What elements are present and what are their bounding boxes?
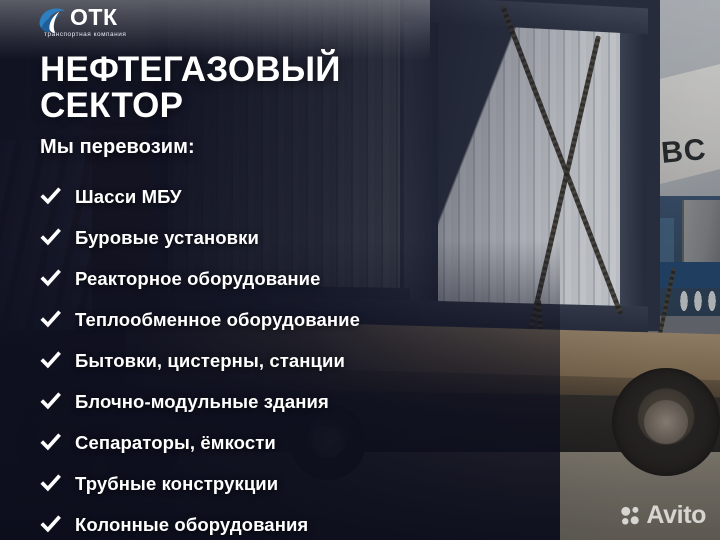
avito-watermark: Avito <box>620 503 706 528</box>
list-item: Блочно-модульные здания <box>40 381 460 422</box>
list-item-label: Шасси МБУ <box>75 186 182 208</box>
list-item-label: Буровые установки <box>75 227 259 249</box>
list-item-label: Трубные конструкции <box>75 473 278 495</box>
check-icon <box>40 473 61 494</box>
check-icon <box>40 227 61 248</box>
banner-content: ОТК транспортная компания НЕФТЕГАЗОВЫЙ С… <box>0 0 720 540</box>
list-item: Теплообменное оборудование <box>40 299 460 340</box>
list-item: Бытовки, цистерны, станции <box>40 340 460 381</box>
avito-dots-icon <box>620 505 641 526</box>
list-item-label: Блочно-модульные здания <box>75 391 329 413</box>
check-icon <box>40 309 61 330</box>
check-icon <box>40 268 61 289</box>
services-list: Шасси МБУ Буровые установки Реакторное о… <box>40 176 460 540</box>
logo-wordmark: ОТК <box>70 6 126 29</box>
check-icon <box>40 514 61 535</box>
page-title: НЕФТЕГАЗОВЫЙ СЕКТОР <box>40 52 440 124</box>
list-item-label: Бытовки, цистерны, станции <box>75 350 345 372</box>
page-subtitle: Мы перевозим: <box>40 136 195 159</box>
advertisement-banner: ОВС НЦИЯ <box>0 0 720 540</box>
check-icon <box>40 186 61 207</box>
check-icon <box>40 432 61 453</box>
list-item: Шасси МБУ <box>40 176 460 217</box>
list-item-label: Колонные оборудования <box>75 514 308 536</box>
logo-tagline: транспортная компания <box>44 31 126 38</box>
avito-wordmark: Avito <box>646 503 706 528</box>
list-item: Буровые установки <box>40 217 460 258</box>
list-item-label: Реакторное оборудование <box>75 268 321 290</box>
list-item: Реакторное оборудование <box>40 258 460 299</box>
list-item: Колонные оборудования <box>40 504 460 540</box>
check-icon <box>40 350 61 371</box>
list-item: Трубные конструкции <box>40 463 460 504</box>
otk-swoosh-logo-icon <box>38 7 66 33</box>
list-item-label: Сепараторы, ёмкости <box>75 432 276 454</box>
check-icon <box>40 391 61 412</box>
company-logo[interactable]: ОТК транспортная компания <box>38 6 126 38</box>
list-item: Сепараторы, ёмкости <box>40 422 460 463</box>
list-item-label: Теплообменное оборудование <box>75 309 360 331</box>
